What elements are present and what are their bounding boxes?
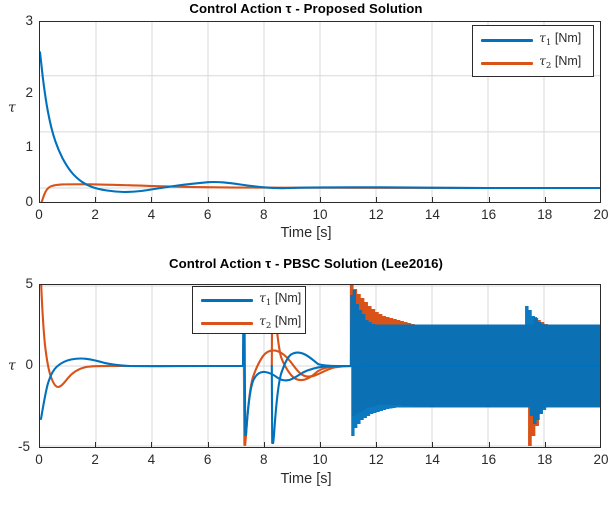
legend-proposed[interactable]: τ1 [Nm] τ2 [Nm] xyxy=(472,25,594,77)
x-tick-10-proposed: 10 xyxy=(300,207,340,222)
x-tick-16-pbsc: 16 xyxy=(469,452,509,467)
x-tickmark-proposed xyxy=(208,197,209,203)
series-tau1-chatter-pbsc xyxy=(351,291,600,435)
x-tickmark-pbsc xyxy=(489,442,490,448)
legend-label-tau1-proposed: τ1 [Nm] xyxy=(539,30,581,48)
x-tick-6-pbsc: 6 xyxy=(188,452,228,467)
x-tickmark-pbsc xyxy=(151,442,152,448)
x-tick-4-pbsc: 4 xyxy=(131,452,171,467)
x-tickmark-pbsc xyxy=(208,442,209,448)
x-tick-12-proposed: 12 xyxy=(356,207,396,222)
x-tick-18-proposed: 18 xyxy=(525,207,565,222)
x-tickmark-proposed xyxy=(264,197,265,203)
chart-title-proposed: Control Action τ - Proposed Solution xyxy=(0,1,612,16)
x-tick-6-proposed: 6 xyxy=(188,207,228,222)
legend-item-tau2-pbsc[interactable]: τ2 [Nm] xyxy=(193,311,305,334)
legend-label-tau1-pbsc: τ1 [Nm] xyxy=(259,290,301,308)
x-tickmark-proposed xyxy=(432,197,433,203)
y-tick-3-proposed: 3 xyxy=(3,13,33,28)
plot-area-pbsc xyxy=(39,284,601,448)
x-tick-4-proposed: 4 xyxy=(131,207,171,222)
x-tickmark-pbsc xyxy=(320,442,321,448)
x-tick-0-proposed: 0 xyxy=(19,207,59,222)
chart-title-pbsc: Control Action τ - PBSC Solution (Lee201… xyxy=(0,256,612,271)
plot-svg-pbsc xyxy=(40,285,600,447)
legend-label-tau2-pbsc: τ2 [Nm] xyxy=(259,313,301,331)
chart-proposed-solution: Control Action τ - Proposed Solution τ 0… xyxy=(0,0,612,252)
chart-pbsc-solution: Control Action τ - PBSC Solution (Lee201… xyxy=(0,254,612,512)
legend-item-tau2-proposed[interactable]: τ2 [Nm] xyxy=(473,51,593,74)
legend-pbsc[interactable]: τ1 [Nm] τ2 [Nm] xyxy=(192,286,306,334)
x-tick-8-proposed: 8 xyxy=(244,207,284,222)
legend-swatch-tau1-proposed xyxy=(481,39,533,42)
x-tickmark-proposed xyxy=(320,197,321,203)
y-tick-0-pbsc: 0 xyxy=(3,357,33,372)
x-tickmark-pbsc xyxy=(264,442,265,448)
x-axis-label-pbsc: Time [s] xyxy=(0,471,612,487)
x-tick-16-proposed: 16 xyxy=(469,207,509,222)
x-tick-2-pbsc: 2 xyxy=(75,452,115,467)
x-tick-14-pbsc: 14 xyxy=(412,452,452,467)
x-tick-2-proposed: 2 xyxy=(75,207,115,222)
y-axis-label-proposed: τ xyxy=(8,100,16,116)
x-tick-14-proposed: 14 xyxy=(412,207,452,222)
x-axis-label-proposed: Time [s] xyxy=(0,225,612,241)
x-tickmark-proposed xyxy=(489,197,490,203)
x-tick-0-pbsc: 0 xyxy=(19,452,59,467)
figure-page: Control Action τ - Proposed Solution τ 0… xyxy=(0,0,612,512)
y-tick-2-proposed: 2 xyxy=(3,85,33,100)
legend-swatch-tau1-pbsc xyxy=(201,299,253,302)
legend-swatch-tau2-proposed xyxy=(481,62,533,65)
legend-item-tau1-pbsc[interactable]: τ1 [Nm] xyxy=(193,288,305,311)
x-tick-20-pbsc: 20 xyxy=(581,452,612,467)
x-tick-10-pbsc: 10 xyxy=(300,452,340,467)
x-tickmark-proposed xyxy=(376,197,377,203)
x-tickmark-proposed xyxy=(95,197,96,203)
legend-item-tau1-proposed[interactable]: τ1 [Nm] xyxy=(473,28,593,51)
legend-label-tau2-proposed: τ2 [Nm] xyxy=(539,53,581,71)
y-tick-5-pbsc: 5 xyxy=(3,276,33,291)
legend-swatch-tau2-pbsc xyxy=(201,322,253,325)
x-tick-8-pbsc: 8 xyxy=(244,452,284,467)
x-tickmark-pbsc xyxy=(95,442,96,448)
y-tick-1-proposed: 1 xyxy=(3,139,33,154)
x-tick-20-proposed: 20 xyxy=(581,207,612,222)
x-tick-12-pbsc: 12 xyxy=(356,452,396,467)
x-tickmark-pbsc xyxy=(545,442,546,448)
x-tickmark-proposed xyxy=(545,197,546,203)
x-tickmark-proposed xyxy=(151,197,152,203)
x-tickmark-pbsc xyxy=(432,442,433,448)
x-tick-18-pbsc: 18 xyxy=(525,452,565,467)
x-tickmark-pbsc xyxy=(376,442,377,448)
